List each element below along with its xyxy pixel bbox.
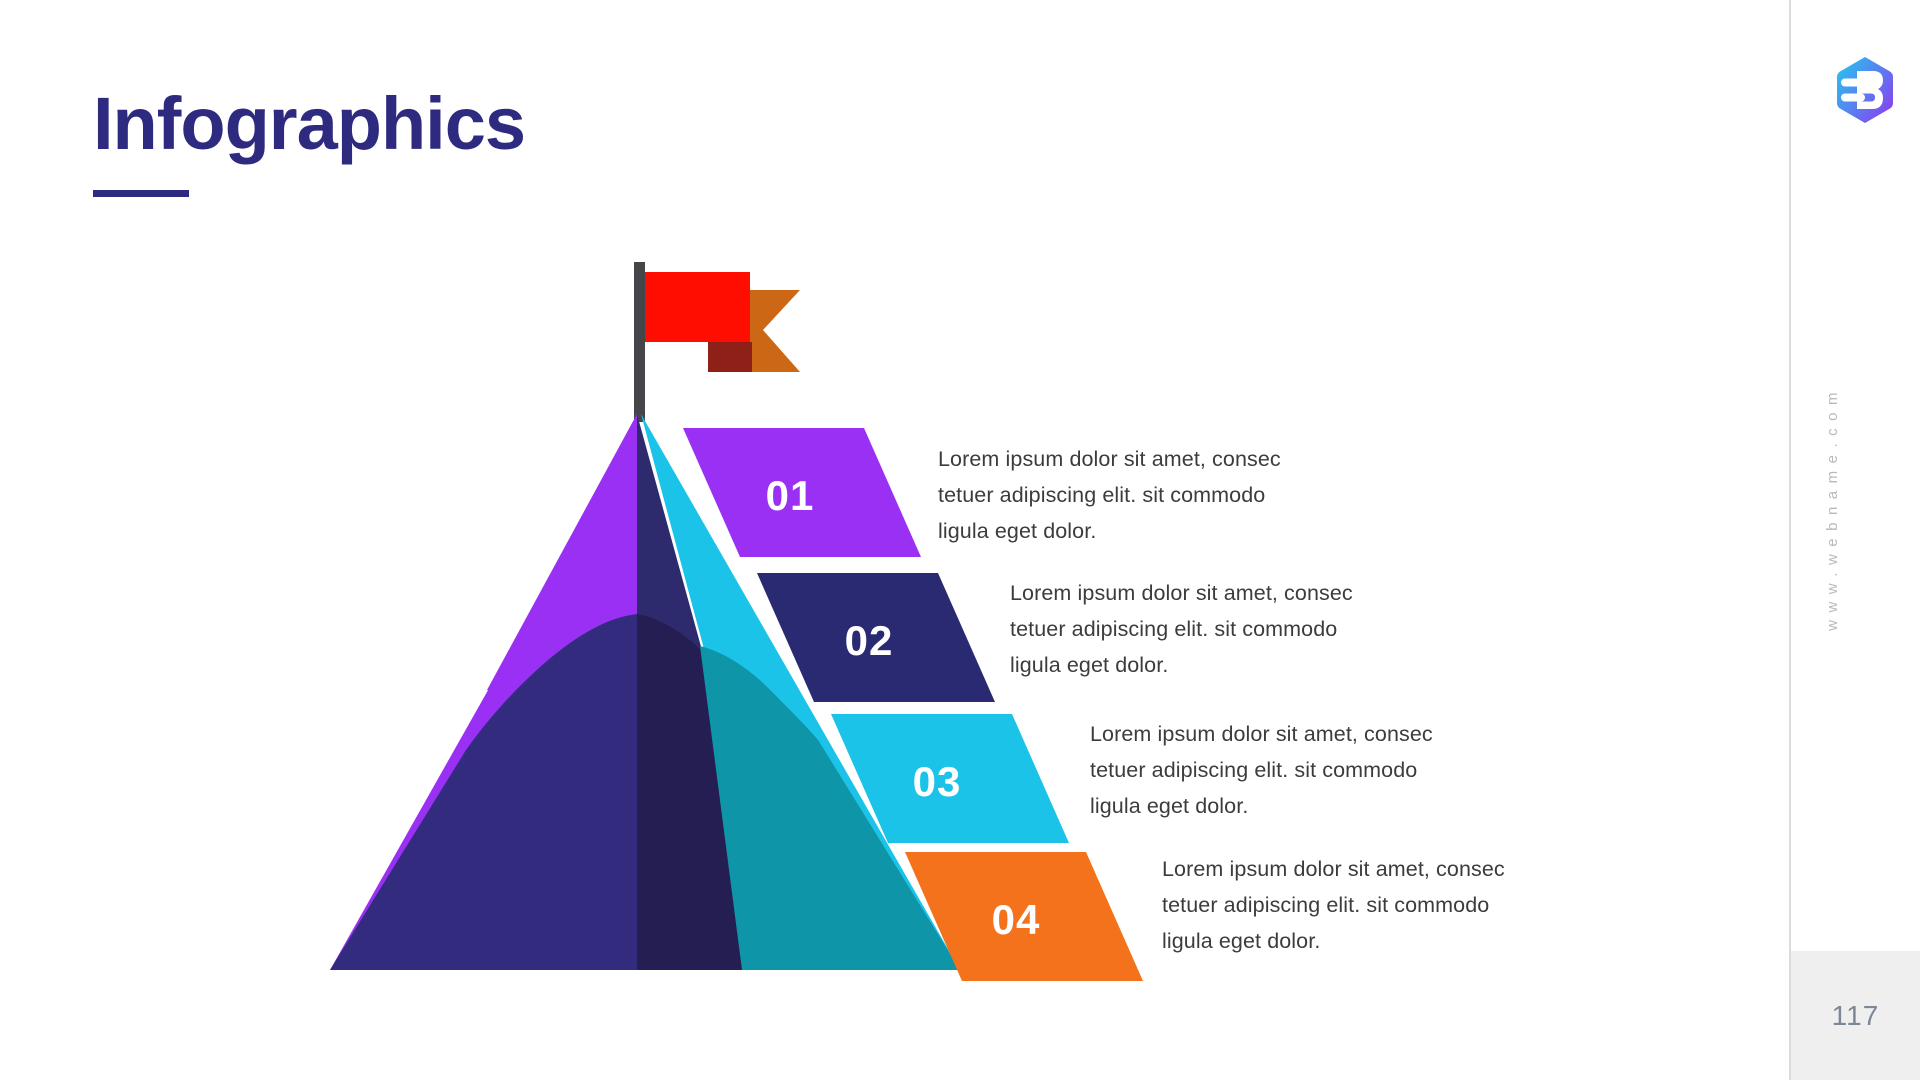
flag-pole (634, 262, 645, 422)
mountain-front-right (700, 646, 960, 970)
step-description-04: Lorem ipsum dolor sit amet, consec tetue… (1162, 852, 1562, 959)
flag-front-banner (645, 272, 750, 342)
website-url[interactable]: www.webname.com (1824, 385, 1864, 631)
page-number-panel: 117 (1791, 951, 1920, 1080)
page-title: Infographics (93, 85, 525, 163)
step-number-03: 03 (913, 758, 962, 805)
step-shape-02[interactable]: 02 (757, 573, 995, 702)
step-shape-01[interactable]: 01 (683, 428, 921, 557)
mountain-back (330, 414, 960, 970)
flag-back-banner (708, 290, 800, 372)
right-rail-divider (1789, 0, 1791, 1080)
mountain-left-face (330, 414, 637, 970)
step-number-02: 02 (845, 617, 894, 664)
mountain-left-slope (330, 414, 637, 970)
summit-flag (634, 262, 800, 422)
mountain-purple-wing (330, 414, 637, 970)
mountain-face-cyan (641, 414, 960, 970)
mountain-face-purple-lower (330, 690, 637, 970)
step-description-03: Lorem ipsum dolor sit amet, consec tetue… (1090, 717, 1490, 824)
step-number-04: 04 (992, 896, 1041, 943)
step-description-01: Lorem ipsum dolor sit amet, consec tetue… (938, 442, 1338, 549)
mountain-front-right-fill (736, 664, 960, 970)
slide-canvas: Infographics (0, 0, 1920, 1080)
flag-banner-shadow (708, 342, 752, 372)
mountain-front-center (637, 614, 920, 970)
page-number: 117 (1832, 1000, 1880, 1032)
step-shape-03[interactable]: 03 (831, 714, 1069, 843)
mountain-front (330, 614, 960, 970)
mountain-face-navy (637, 414, 790, 970)
mountain-front-left (330, 614, 637, 970)
step-shape-04[interactable]: 04 (905, 852, 1143, 981)
title-block: Infographics (93, 85, 525, 197)
step-description-02: Lorem ipsum dolor sit amet, consec tetue… (1010, 576, 1410, 683)
title-underline-rule (93, 190, 189, 197)
mountain-face-purple (487, 414, 637, 700)
brand-logo[interactable] (1833, 55, 1897, 125)
step-number-01: 01 (766, 472, 815, 519)
